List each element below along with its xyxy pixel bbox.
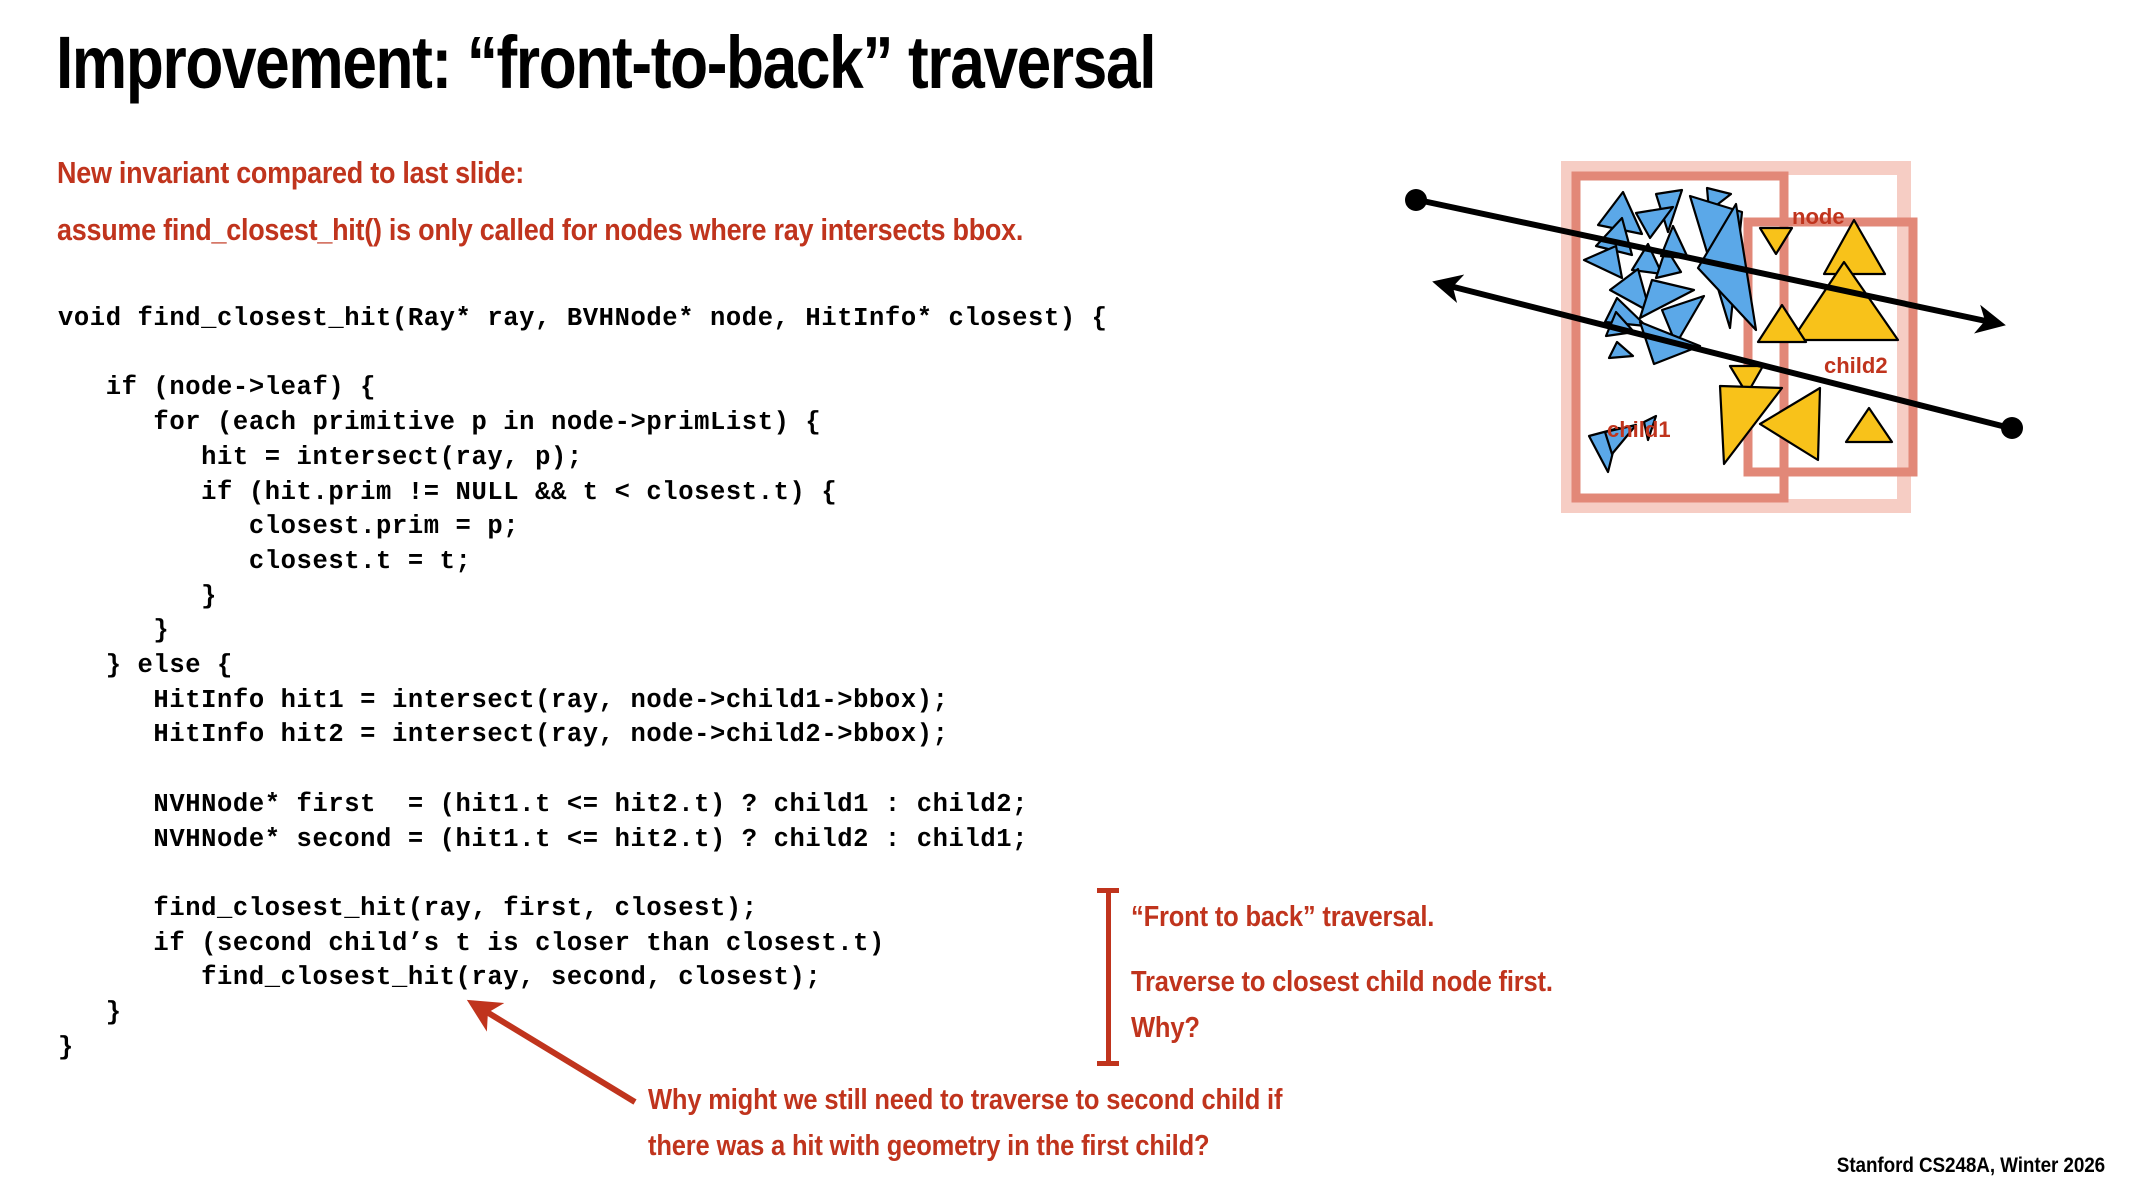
callout-bracket <box>1097 888 1119 1066</box>
invariant-line-2: assume find_closest_hit() is only called… <box>57 213 1023 247</box>
invariant-line-1: New invariant compared to last slide: <box>57 156 524 190</box>
footer-credit: Stanford CS248A, Winter 2026 <box>1837 1154 2105 1178</box>
code-listing: void find_closest_hit(Ray* ray, BVHNode*… <box>58 302 1108 1065</box>
bracket-stem <box>1106 888 1111 1066</box>
page-title: Improvement: “front-to-back” traversal <box>56 22 1155 104</box>
bottom-question: Why might we still need to traverse to s… <box>648 1077 1282 1169</box>
bvh-label-node: node <box>1792 204 1845 229</box>
red-pointer-arrow <box>450 985 660 1115</box>
callout-line-front-to-back: “Front to back” traversal. <box>1131 899 1434 935</box>
callout-line-why: Why? <box>1131 1010 1200 1046</box>
bracket-cap-bottom <box>1097 1061 1119 1066</box>
bottom-question-line-1: Why might we still need to traverse to s… <box>648 1077 1282 1123</box>
bvh-label-child2: child2 <box>1824 353 1888 378</box>
bvh-label-child1: child1 <box>1607 417 1671 442</box>
slide-canvas: Improvement: “front-to-back” traversal N… <box>0 0 2133 1200</box>
callout-line-traverse-closest: Traverse to closest child node first. <box>1131 964 1553 1000</box>
bvh-diagram: node child1 child2 <box>1400 150 2100 530</box>
bottom-question-line-2: there was a hit with geometry in the fir… <box>648 1123 1282 1169</box>
